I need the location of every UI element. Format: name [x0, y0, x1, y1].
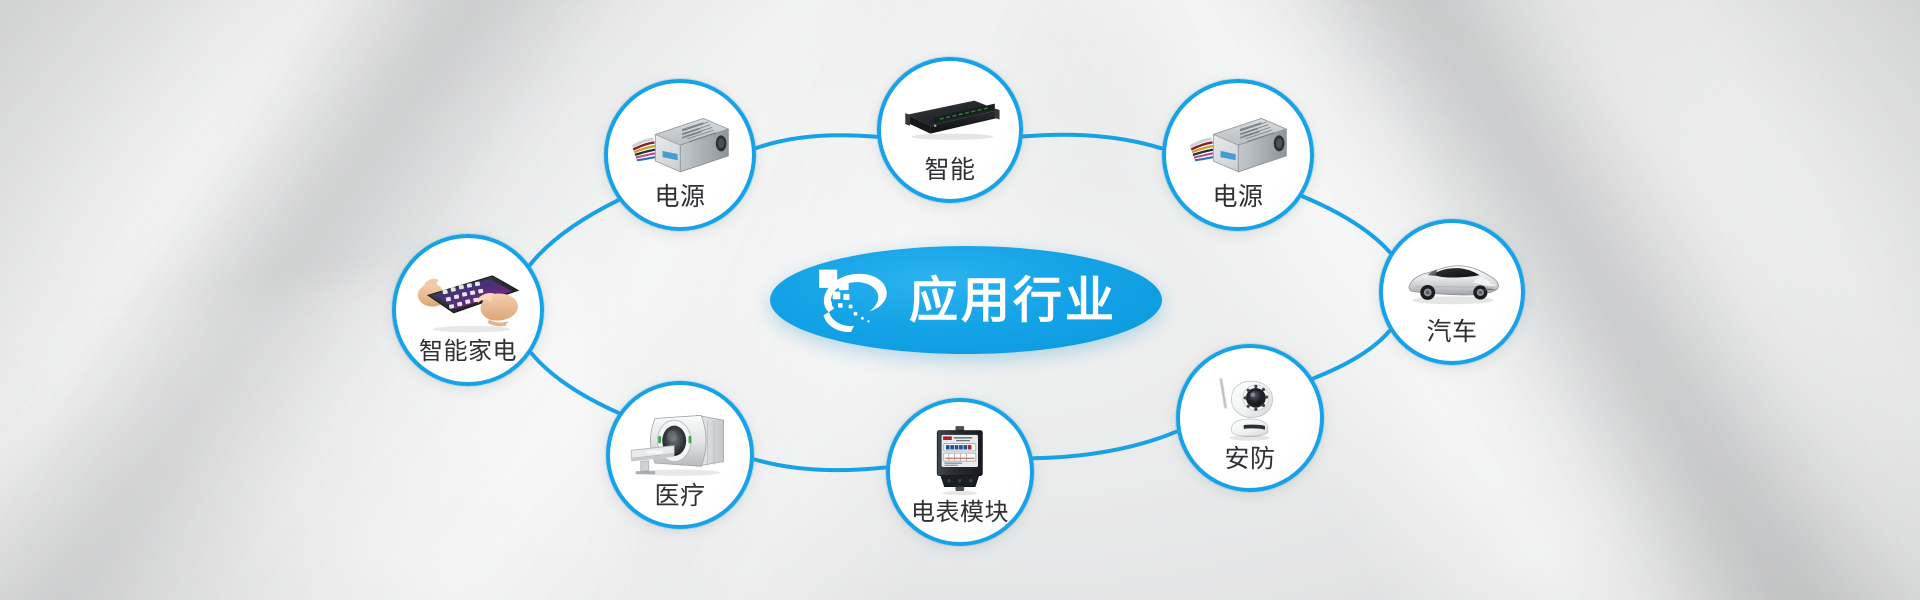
connector-medical-to-smart-home-appliance: [532, 354, 619, 413]
node-label: 电源: [1212, 184, 1263, 209]
connector-security-to-meter-module: [1034, 432, 1177, 459]
node-label: 汽车: [1426, 319, 1477, 344]
node-smart-home-appliance[interactable]: 智能家电: [392, 234, 544, 386]
electric-meter-icon: [908, 424, 1012, 497]
tablet-in-hands-icon: [415, 261, 522, 336]
node-label: 安防: [1224, 446, 1275, 471]
connector-meter-module-to-medical: [755, 460, 885, 471]
node-label: 智能家电: [419, 339, 517, 363]
node-label: 电源: [654, 184, 705, 209]
center-hub-title: 应用行业: [909, 276, 1117, 325]
node-power-supply-left[interactable]: 电源: [604, 79, 756, 231]
connector-power-supply-left-to-smart: [757, 135, 877, 148]
sports-car-icon: [1401, 244, 1503, 316]
node-smart[interactable]: 智能: [877, 57, 1023, 203]
node-automotive[interactable]: 汽车: [1379, 219, 1525, 365]
atx-power-supply-icon: [627, 105, 734, 180]
connector-automotive-to-security: [1314, 331, 1390, 378]
node-security[interactable]: 安防: [1176, 344, 1324, 492]
node-label: 智能: [924, 157, 975, 182]
node-power-supply-right[interactable]: 电源: [1162, 79, 1314, 231]
connector-smart-home-appliance-to-power-supply-left: [530, 200, 618, 264]
node-label: 医疗: [654, 483, 705, 508]
node-meter-module[interactable]: 电表模块: [886, 398, 1034, 546]
node-label: 电表模块: [911, 500, 1009, 524]
banner-stage: 电源: [0, 0, 1920, 600]
connector-power-supply-right-to-automotive: [1303, 197, 1390, 253]
node-medical[interactable]: 医疗: [606, 381, 754, 529]
rackmount-server-icon: [899, 82, 1001, 154]
mri-scanner-icon: [628, 406, 732, 479]
digital-orbit-swoosh-logo-icon: [815, 265, 893, 335]
atx-power-supply-icon: [1185, 105, 1292, 180]
connector-smart-to-power-supply-right: [1024, 135, 1162, 149]
ip-camera-icon: [1198, 369, 1302, 442]
center-hub[interactable]: 应用行业: [770, 246, 1162, 354]
